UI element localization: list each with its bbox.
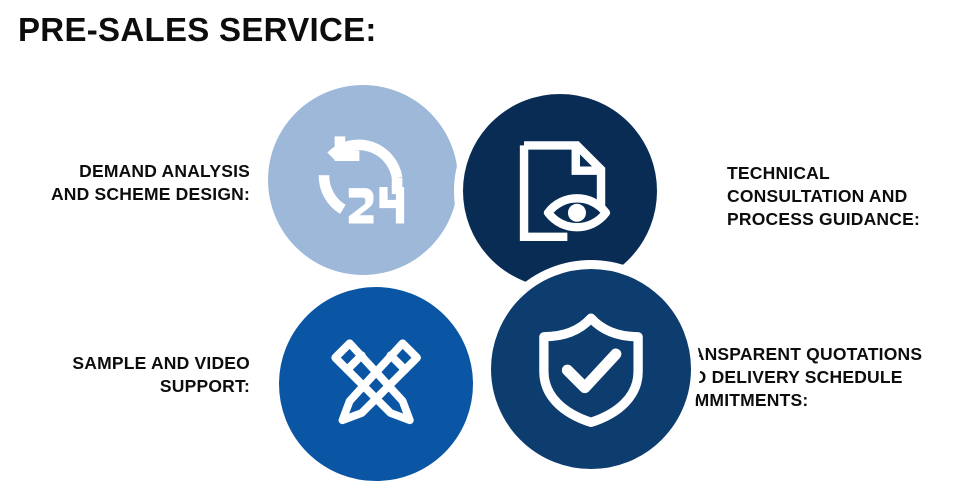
label-line: AND DELIVERY SCHEDULE (668, 366, 960, 389)
label-demand-analysis: DEMAND ANALYSIS AND SCHEME DESIGN: (10, 160, 250, 206)
label-technical-consultation: TECHNICAL CONSULTATION AND PROCESS GUIDA… (727, 162, 955, 231)
crossed-pencils-design-icon (316, 324, 436, 444)
label-line: TRANSPARENT QUOTATIONS (668, 343, 960, 366)
label-line: CONSULTATION AND (727, 185, 955, 208)
label-transparent-quotations: TRANSPARENT QUOTATIONS AND DELIVERY SCHE… (668, 343, 960, 412)
label-line: SAMPLE AND VIDEO (10, 352, 250, 375)
infographic-canvas: PRE-SALES SERVICE: (0, 0, 960, 498)
page-title: PRE-SALES SERVICE: (18, 11, 377, 49)
circle-demand-analysis[interactable] (268, 85, 458, 275)
document-eye-review-icon (500, 131, 620, 251)
label-sample-video-support: SAMPLE AND VIDEO SUPPORT: (10, 352, 250, 398)
clock-24-arrow-icon (304, 121, 422, 239)
circle-sample-video-support[interactable] (270, 278, 482, 490)
label-line: PROCESS GUIDANCE: (727, 208, 955, 231)
label-line: SUPPORT: (10, 375, 250, 398)
label-line: TECHNICAL (727, 162, 955, 185)
label-line: COMMITMENTS: (668, 389, 960, 412)
circle-cluster (262, 82, 704, 482)
label-line: AND SCHEME DESIGN: (10, 183, 250, 206)
shield-check-icon (529, 307, 653, 431)
circle-transparent-quotations[interactable] (482, 260, 700, 478)
label-line: DEMAND ANALYSIS (10, 160, 250, 183)
